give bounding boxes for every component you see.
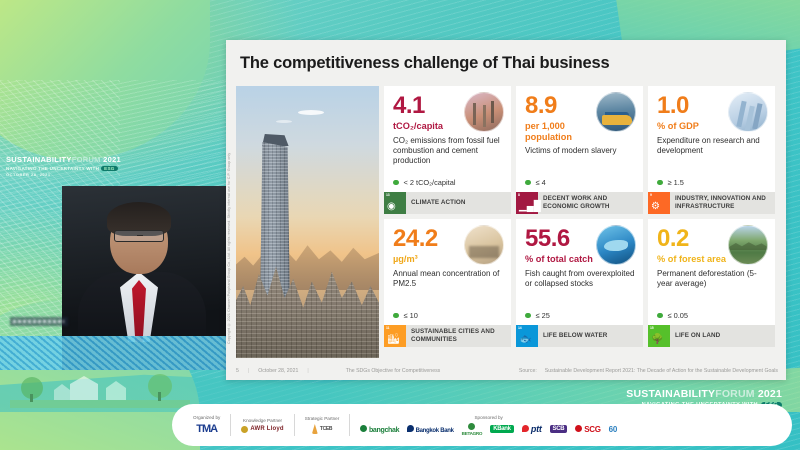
sponsor-group-strategic-partner: Strategic Partner TCEB [298, 416, 346, 434]
eye-circle-icon: ◉ [387, 202, 396, 212]
stat-description: Victims of modern slavery [525, 146, 635, 156]
awr-lloyd-logo-text: AWR Lloyd [250, 426, 283, 432]
threshold-text: < 2 tCO₂/capital [404, 178, 456, 187]
status-dot [525, 180, 531, 186]
threshold-text: ≤ 10 [404, 311, 418, 320]
stat-card[interactable]: 24.2 µg/m³ Annual mean concentration of … [384, 219, 511, 347]
status-dot [525, 313, 531, 319]
sdg-name: INDUSTRY, INNOVATION AND INFRASTRUCTURE [670, 192, 775, 214]
copyright-notice: Copyright © 2021 Charoen Pokphand Group … [227, 98, 231, 344]
threshold-text: ≥ 1.5 [668, 178, 684, 187]
card-body: 55.6 % of total catch Fish caught from o… [516, 219, 643, 311]
sdg-number: 14 [518, 327, 536, 330]
laboratory-thumb [728, 92, 768, 132]
sdg-name: SUSTAINABLE CITIES AND COMMUNITIES [406, 325, 511, 347]
speaker-name-label [10, 317, 68, 326]
scb-logo-text: SCB [553, 426, 565, 432]
kbank-logo[interactable]: KBank [490, 425, 514, 433]
tceb-mark-icon [312, 424, 318, 434]
sponsor-group-organized-by: Organized by TMA [186, 415, 227, 435]
deforested-hills-thumb [728, 225, 768, 265]
fish-underwater-thumb [596, 225, 636, 265]
power-plant-thumb [464, 92, 504, 132]
gears-cube-icon: ⚙ [651, 202, 660, 212]
scb-logo[interactable]: SCB [550, 425, 568, 433]
stat-card[interactable]: 0.2 % of forest area Permanent deforesta… [648, 219, 775, 347]
bangchak-logo[interactable]: bangchak [360, 425, 399, 434]
awr-lloyd-logo[interactable]: AWR Lloyd [241, 426, 283, 433]
stat-threshold: < 2 tCO₂/capital [384, 178, 511, 192]
sdg-banner: 14 🐟 LIFE BELOW WATER [516, 325, 643, 347]
sponsor-bar: Organized by TMA Knowledge Partner AWR L… [172, 404, 792, 446]
ptt-logo[interactable]: ptt [522, 424, 542, 434]
stat-card[interactable]: 8.9 per 1,000 population Victims of mode… [516, 86, 643, 214]
tma-logo-text: TMA [196, 423, 217, 435]
slide-footer: 5 | October 28, 2021 | The SDGs Objectiv… [236, 368, 778, 374]
event-title-sub: FORUM [72, 155, 101, 164]
esg-badge: ESG [101, 166, 117, 171]
stat-card[interactable]: 4.1 tCO₂/capita CO₂ emissions from fossi… [384, 86, 511, 214]
photo-cloud-small [276, 120, 292, 123]
betagro-logo[interactable]: BETAGRO [462, 423, 483, 436]
sdg-number: 9 [650, 194, 668, 197]
sponsor-divider [349, 414, 350, 436]
scg-logo-text: SCG [584, 425, 600, 434]
dust-haze-thumb [464, 225, 504, 265]
forum-title-main: SUSTAINABILITY [626, 388, 715, 400]
awr-lloyd-mark-icon [241, 426, 248, 433]
slide-page-number: 5 [236, 368, 239, 374]
tceb-logo[interactable]: TCEB [312, 424, 332, 434]
sponsor-caption: Organized by [193, 415, 220, 420]
sdg-banner: 9 ⚙ INDUSTRY, INNOVATION AND INFRASTRUCT… [648, 192, 775, 214]
stat-card-row-2: 24.2 µg/m³ Annual mean concentration of … [384, 219, 776, 347]
sponsor-group-sponsored-by: Sponsored by bangchak Bangkok Bank BETAG… [353, 415, 624, 436]
sixty-logo-text: 60 [609, 425, 617, 434]
card-body: 1.0 % of GDP Expenditure on research and… [648, 86, 775, 178]
stat-threshold: ≤ 0.05 [648, 311, 775, 325]
sponsor-caption: Knowledge Partner [243, 418, 282, 423]
bangchak-logo-text: bangchak [369, 427, 399, 434]
sdg-name: LIFE BELOW WATER [538, 325, 643, 347]
page-title: The competitiveness challenge of Thai bu… [240, 54, 610, 73]
sdg-banner: 15 🌳 LIFE ON LAND [648, 325, 775, 347]
fish-waves-icon: 🐟 [519, 335, 531, 345]
sdg-name: DECENT WORK AND ECONOMIC GROWTH [538, 192, 643, 214]
betagro-mark-icon [468, 423, 475, 430]
sdg-banner: 8 ▁▄█ DECENT WORK AND ECONOMIC GROWTH [516, 192, 643, 214]
sponsor-divider [294, 414, 295, 436]
sdg-tile: 13 ◉ [384, 192, 406, 214]
card-body: 8.9 per 1,000 population Victims of mode… [516, 86, 643, 178]
growth-bars-icon: ▁▄█ [519, 202, 541, 212]
kbank-logo-text: KBank [493, 426, 511, 432]
bangkok-skyline-photo [236, 86, 379, 358]
city-buildings-icon: 🏙 [387, 335, 400, 345]
sdg-tile: 8 ▁▄█ [516, 192, 538, 214]
sdg-tile: 15 🌳 [648, 325, 670, 347]
sponsor-divider [230, 414, 231, 436]
event-title-main: SUSTAINABILITY [6, 155, 72, 164]
sdg-banner: 13 ◉ CLIMATE ACTION [384, 192, 511, 214]
slide-source: Source: Sustainable Development Report 2… [519, 368, 778, 374]
event-year: 2021 [103, 155, 121, 164]
stat-card-grid: 4.1 tCO₂/capita CO₂ emissions from fossi… [384, 86, 776, 352]
ptt-logo-text: ptt [531, 424, 542, 434]
slide-date: October 28, 2021 [258, 368, 298, 374]
stat-description: Permanent deforestation (5-year average) [657, 269, 767, 290]
status-dot [657, 180, 663, 186]
stat-threshold: ≥ 1.5 [648, 178, 775, 192]
stat-threshold: ≤ 4 [516, 178, 643, 192]
photo-cloud [298, 110, 324, 115]
stat-unit: per 1,000 population [525, 121, 597, 142]
status-dot [393, 313, 399, 319]
threshold-text: ≤ 25 [536, 311, 550, 320]
stat-card[interactable]: 1.0 % of GDP Expenditure on research and… [648, 86, 775, 214]
presentation-background: SUSTAINABILITYFORUM 2021 NAVIGATING THE … [0, 0, 800, 450]
speaker-video-panel[interactable]: SUSTAINABILITYFORUM 2021 NAVIGATING THE … [0, 80, 226, 370]
footer-divider: | [248, 368, 249, 374]
sdg-tile: 9 ⚙ [648, 192, 670, 214]
sdg-name: CLIMATE ACTION [406, 192, 511, 214]
stat-description: Expenditure on research and development [657, 136, 767, 157]
sdg-number: 11 [386, 327, 404, 330]
forum-title-sub: FORUM [715, 388, 755, 400]
threshold-text: ≤ 0.05 [668, 311, 689, 320]
slide-canvas[interactable]: The competitiveness challenge of Thai bu… [226, 40, 786, 380]
status-dot [657, 313, 663, 319]
sixty-anniversary-logo[interactable]: 60 [609, 425, 617, 434]
tma-logo[interactable]: TMA [196, 423, 217, 435]
sdg-name: LIFE ON LAND [670, 325, 775, 347]
sdg-number: 15 [650, 327, 668, 330]
stat-threshold: ≤ 10 [384, 311, 511, 325]
footer-divider: | [307, 368, 308, 374]
sdg-number: 8 [518, 194, 536, 197]
sponsor-group-knowledge-partner: Knowledge Partner AWR Lloyd [234, 418, 290, 433]
stat-card-row-1: 4.1 tCO₂/capita CO₂ emissions from fossi… [384, 86, 776, 214]
sponsor-caption: Strategic Partner [305, 416, 339, 421]
ptt-flame-icon [522, 425, 529, 432]
forum-year: 2021 [758, 388, 782, 400]
slide-section-label: The SDGs Objective for Competitiveness [346, 368, 441, 374]
card-body: 0.2 % of forest area Permanent deforesta… [648, 219, 775, 311]
card-body: 24.2 µg/m³ Annual mean concentration of … [384, 219, 511, 311]
bangkok-bank-logo-text: Bangkok Bank [416, 428, 454, 434]
source-label: Source: [519, 368, 537, 374]
speaker-panel-bottom-stripes [0, 336, 226, 370]
bangchak-mark-icon [360, 425, 367, 432]
sponsor-caption: Sponsored by [474, 415, 502, 420]
tceb-logo-text: TCEB [320, 426, 332, 432]
stat-threshold: ≤ 25 [516, 311, 643, 325]
stat-description: Annual mean concentration of PM2.5 [393, 269, 503, 290]
stat-description: CO₂ emissions from fossil fuel combustio… [393, 136, 503, 167]
betagro-logo-text: BETAGRO [462, 431, 483, 436]
event-tagline: NAVIGATING THE UNCERTAINTY WITH [6, 166, 99, 171]
bangkok-bank-logo[interactable]: Bangkok Bank [407, 425, 453, 434]
sdg-number: 13 [386, 194, 404, 197]
speaker-panel-event-banner: SUSTAINABILITYFORUM 2021 NAVIGATING THE … [6, 156, 146, 178]
tree-birds-icon: 🌳 [651, 335, 663, 345]
bangkok-bank-mark-icon [407, 425, 414, 432]
stat-description: Fish caught from overexploited or collap… [525, 269, 635, 290]
fishing-boat-thumb [596, 92, 636, 132]
sdg-tile: 14 🐟 [516, 325, 538, 347]
card-body: 4.1 tCO₂/capita CO₂ emissions from fossi… [384, 86, 511, 178]
event-date: OCTOBER 28, 2021 [6, 173, 146, 178]
scg-mark-icon [575, 425, 582, 432]
sdg-tile: 11 🏙 [384, 325, 406, 347]
sdg-banner: 11 🏙 SUSTAINABLE CITIES AND COMMUNITIES [384, 325, 511, 347]
source-text: Sustainable Development Report 2021: The… [545, 368, 778, 374]
portrait-glasses [114, 230, 164, 242]
status-dot [393, 180, 399, 186]
scg-logo[interactable]: SCG [575, 425, 600, 434]
stat-card[interactable]: 55.6 % of total catch Fish caught from o… [516, 219, 643, 347]
threshold-text: ≤ 4 [536, 178, 546, 187]
sponsor-logo-row: bangchak Bangkok Bank BETAGRO KBank ptt [360, 423, 617, 436]
